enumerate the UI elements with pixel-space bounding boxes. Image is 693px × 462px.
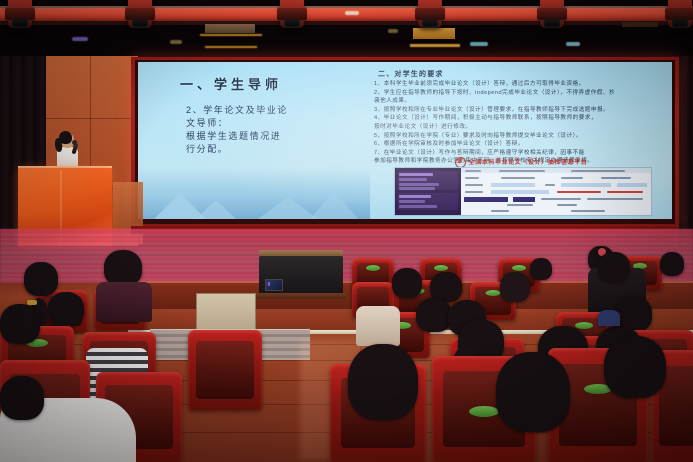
auditorium-scene: 一、学生导师 2、学年论文及毕业论 文导师： 根据学生选题情况进 行分配。 二、… xyxy=(0,0,693,462)
sidebar-item xyxy=(399,178,427,181)
seat-number-tag xyxy=(575,322,593,329)
stage-light-fixture xyxy=(280,0,304,28)
light-beam-glow xyxy=(345,11,359,15)
theater-seat[interactable] xyxy=(188,330,262,410)
slide-right-line: 4、毕业论文（设计）写作期间，积极主动与指导教师联系，按照指导教师的要求， xyxy=(374,114,670,123)
slide-right-body: 1、本科学生毕业前须完成毕业论文（设计）答辩，通过后方可取得毕业资格。 2、学生… xyxy=(374,80,670,166)
light-beam-glow xyxy=(170,40,182,44)
audience-head xyxy=(416,298,452,332)
slide-left: 一、学生导师 2、学年论文及毕业论 文导师： 根据学生选题情况进 行分配。 xyxy=(138,62,370,219)
stage-light-fixture xyxy=(128,0,152,28)
sidebar-item xyxy=(399,205,437,208)
slide-mountain-backdrop xyxy=(138,167,370,219)
audience-head xyxy=(496,352,570,432)
audience-torso xyxy=(356,306,400,346)
slide-left-body: 2、学年论文及毕业论 文导师： 根据学生选题情况进 行分配。 xyxy=(186,104,356,156)
ceiling-panel-edge xyxy=(410,44,460,47)
slide-left-line: 文导师： xyxy=(186,117,356,130)
light-beam-glow xyxy=(566,42,580,46)
stage-light-fixture xyxy=(668,0,692,28)
embedded-app-sidebar xyxy=(395,168,461,215)
slide-right-line: 2、学生应在指导教师的指导下按时、independ完成毕业论文（设计），不得弄虚… xyxy=(374,89,670,98)
hair-clip-icon xyxy=(27,300,37,305)
slide-right-line: 袭他人成果。 xyxy=(374,97,670,106)
ceiling-panel-lit xyxy=(413,28,455,39)
ceiling-truss xyxy=(0,0,693,62)
light-beam-glow xyxy=(72,37,88,41)
audience-torso xyxy=(96,282,152,322)
sidebar-item xyxy=(399,173,433,176)
sidebar-item xyxy=(399,200,425,203)
audience-head xyxy=(660,252,684,276)
slide-right-line: 5、按照学校和所在学院（专业）要求及时向指导教师提交毕业论文（设计）。 xyxy=(374,132,670,141)
seat-number-tag xyxy=(469,406,499,417)
embedded-app-screenshot xyxy=(394,167,652,216)
audience-head xyxy=(598,252,630,282)
slide-left-line: 2、学年论文及毕业论 xyxy=(186,104,356,117)
microphone-head xyxy=(72,140,77,145)
seat-number-tag xyxy=(512,265,526,271)
audience-head xyxy=(348,344,418,420)
stage-access-panel xyxy=(196,293,256,333)
slide-left-line: 根据学生选题情况进 xyxy=(186,130,356,143)
water-bottle-icon xyxy=(598,310,620,326)
sidebar-item xyxy=(399,187,435,190)
audience-head xyxy=(48,292,84,326)
stage-light-fixture xyxy=(540,0,564,28)
monitor-indicator-icon xyxy=(268,282,270,286)
projection-screen: 一、学生导师 2、学年论文及毕业论 文导师： 根据学生选题情况进 行分配。 二、… xyxy=(138,62,672,219)
slide-right-title: 二、对学生的要求 xyxy=(378,69,444,79)
seat-number-tag xyxy=(434,265,448,271)
slide-right-banner-text: 全国本科毕业论文（设计）抽检信息平台 xyxy=(469,160,588,166)
stage-light-fixture xyxy=(418,0,442,28)
audience-head xyxy=(604,336,666,398)
stage-light-fixture xyxy=(8,0,32,28)
slide-left-title: 一、学生导师 xyxy=(180,74,282,93)
audience-head xyxy=(530,258,552,280)
sidebar-item xyxy=(399,195,431,198)
slide-right-line: 1、本科学生毕业前须完成毕业论文（设计）答辩，通过后方可取得毕业资格。 xyxy=(374,80,670,89)
slide-right-line: 6、根据所在学院审核及时参加毕业论文（设计）答辩。 xyxy=(374,140,670,149)
audience-head xyxy=(392,268,422,298)
ceiling-panel xyxy=(622,22,658,27)
audience-head xyxy=(0,304,40,344)
audience-head xyxy=(500,272,530,302)
embedded-app-content xyxy=(461,168,651,215)
seat-number-tag xyxy=(366,265,380,271)
light-beam-glow xyxy=(470,42,488,46)
audience-head xyxy=(24,262,58,296)
audience-head xyxy=(104,250,142,286)
slide-left-line: 行分配。 xyxy=(186,143,356,156)
seat-number-tag xyxy=(486,290,501,296)
slide-right-line: 按时对毕业论文（设计）进行修改。 xyxy=(374,123,670,132)
ceiling-panel xyxy=(205,24,255,33)
audience-head xyxy=(0,376,44,420)
slide-right: 二、对学生的要求 1、本科学生毕业前须完成毕业论文（设计）答辩，通过后方可取得毕… xyxy=(370,62,672,219)
console-table-base xyxy=(256,293,346,299)
ceiling-panel-edge xyxy=(200,34,262,36)
ceiling-panel-edge xyxy=(205,46,257,48)
slide-right-line: 3、按照学校和所在专业毕业论文（设计）管理要求，在指导教师指导下完成选题申报。 xyxy=(374,106,670,115)
light-beam-glow xyxy=(388,29,398,33)
sidebar-item xyxy=(399,183,439,186)
